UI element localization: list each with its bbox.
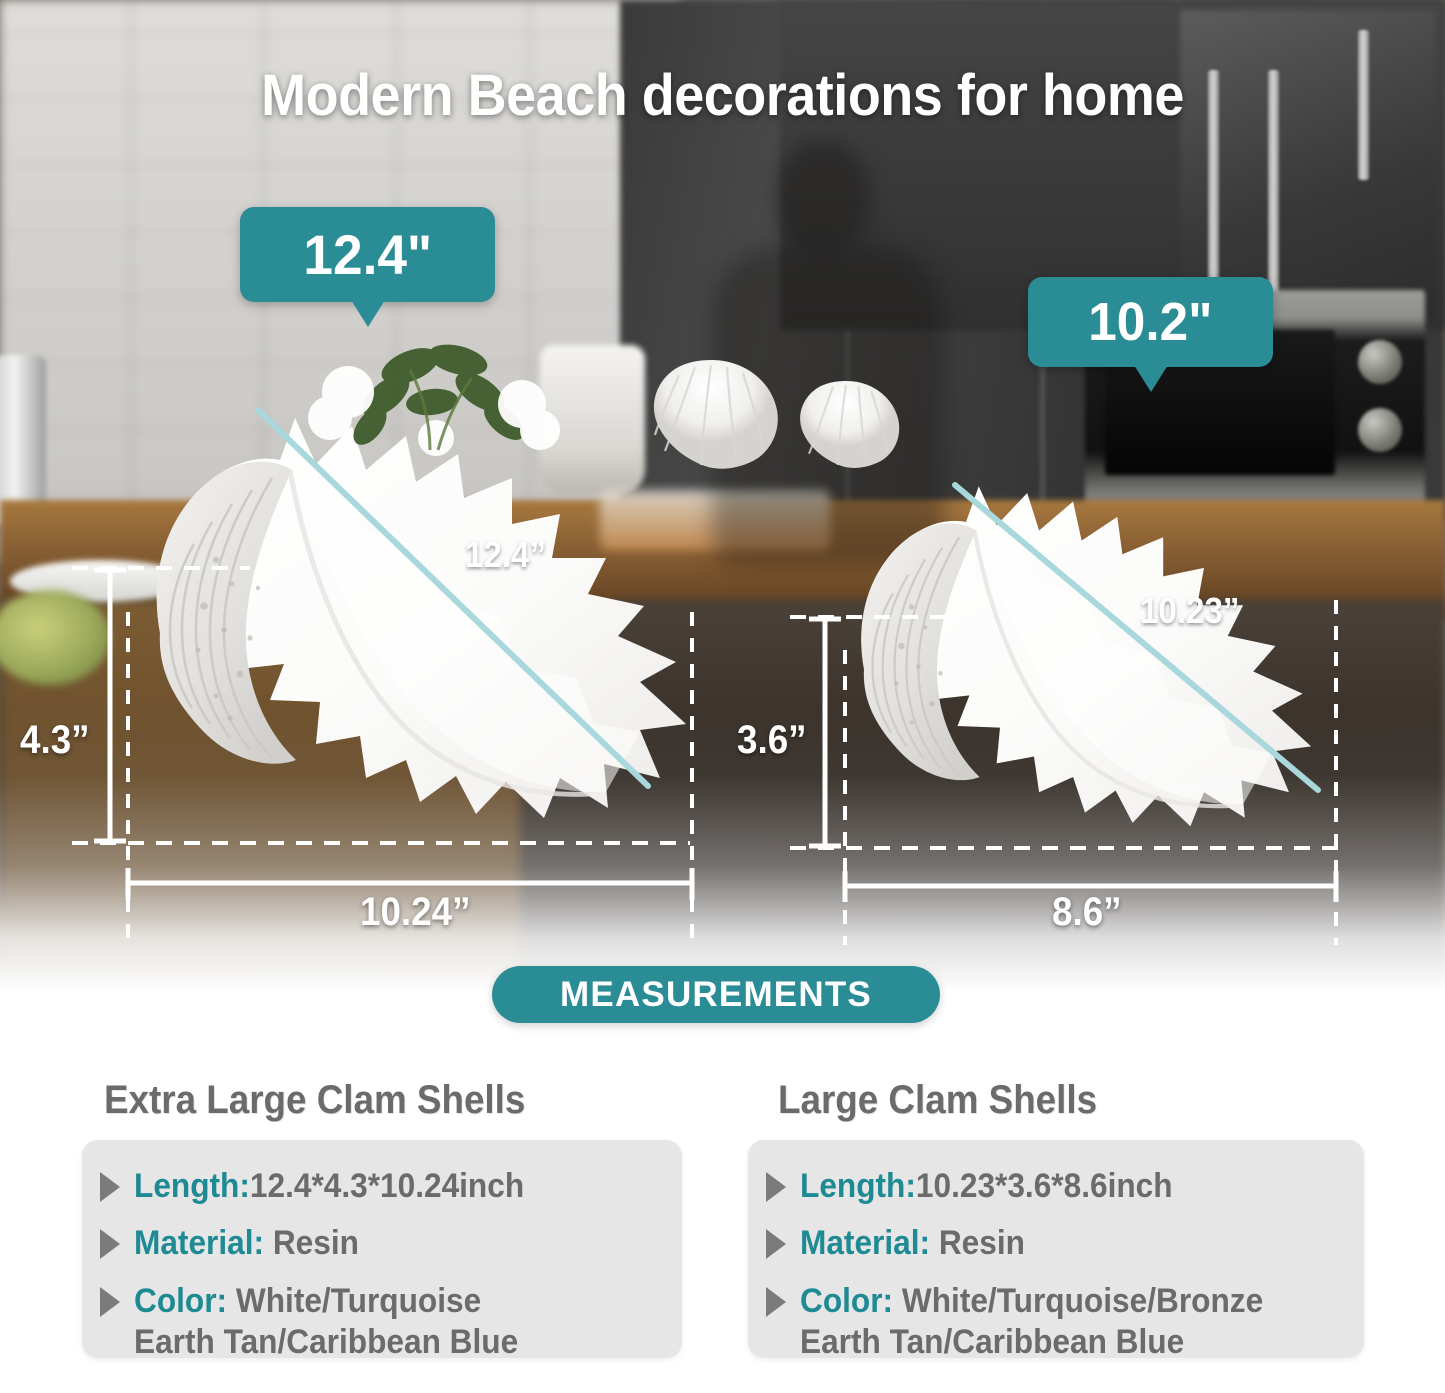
- callout-badge-xl: 12.4": [240, 207, 495, 302]
- spec-row-text: Length:12.4*4.3*10.24inch: [134, 1166, 524, 1207]
- measurements-banner: MEASUREMENTS: [492, 966, 940, 1023]
- xl-diagonal-label: 12.4”: [465, 534, 546, 576]
- spec-row-text: Material: Resin: [800, 1223, 1025, 1264]
- spec-row-color: Color: White/Turquoise Earth Tan/Caribbe…: [100, 1281, 664, 1364]
- spec-panel-xl: Length:12.4*4.3*10.24inch Material: Resi…: [82, 1140, 682, 1358]
- spec-key: Length:: [800, 1167, 916, 1205]
- spec-value-line2: Earth Tan/Caribbean Blue: [800, 1323, 1184, 1361]
- spec-row-material: Material: Resin: [766, 1223, 1346, 1264]
- triangle-right-icon: [766, 1287, 786, 1317]
- spec-row-text: Color: White/Turquoise/Bronze Earth Tan/…: [800, 1281, 1263, 1364]
- spec-title-xl: Extra Large Clam Shells: [104, 1078, 525, 1123]
- spec-panel-l: Length:10.23*3.6*8.6inch Material: Resin…: [748, 1140, 1364, 1358]
- l-diagonal-label: 10.23”: [1140, 590, 1239, 632]
- spec-title-l: Large Clam Shells: [778, 1078, 1097, 1123]
- page-title: Modern Beach decorations for home: [51, 62, 1395, 129]
- microwave-knob: [1358, 408, 1402, 452]
- spec-key: Material:: [134, 1224, 264, 1262]
- spec-row-text: Material: Resin: [134, 1223, 359, 1264]
- kitchen-scene-photo: 4.3” 10.24” 12.4” 3.6” 8.6” 10.23” Moder…: [0, 0, 1445, 1010]
- spec-key: Color:: [134, 1282, 227, 1320]
- spec-key: Color:: [800, 1282, 893, 1320]
- triangle-right-icon: [100, 1172, 120, 1202]
- l-width-label: 8.6”: [1052, 890, 1122, 935]
- callout-badge-xl-value: 12.4": [303, 222, 432, 287]
- person-silhouette-head: [775, 140, 871, 252]
- spec-key: Length:: [134, 1167, 250, 1205]
- triangle-right-icon: [766, 1172, 786, 1202]
- spec-value: 12.4*4.3*10.24inch: [250, 1167, 524, 1205]
- spec-value: White/Turquoise: [227, 1282, 481, 1320]
- spec-row-text: Length:10.23*3.6*8.6inch: [800, 1166, 1173, 1207]
- spec-value-line2: Earth Tan/Caribbean Blue: [134, 1323, 518, 1361]
- spec-value: 10.23*3.6*8.6inch: [916, 1167, 1173, 1205]
- xl-height-label: 4.3”: [20, 718, 90, 763]
- spec-row-text: Color: White/Turquoise Earth Tan/Caribbe…: [134, 1281, 518, 1364]
- triangle-right-icon: [766, 1229, 786, 1259]
- spec-row-color: Color: White/Turquoise/Bronze Earth Tan/…: [766, 1281, 1346, 1364]
- plant-decoration: [290, 330, 570, 470]
- callout-badge-l: 10.2": [1028, 277, 1273, 367]
- spec-value: Resin: [930, 1224, 1025, 1262]
- microwave-knob: [1358, 340, 1402, 384]
- spec-row-length: Length:10.23*3.6*8.6inch: [766, 1166, 1346, 1207]
- spec-value: White/Turquoise/Bronze: [893, 1282, 1263, 1320]
- triangle-right-icon: [100, 1229, 120, 1259]
- product-infographic: 4.3” 10.24” 12.4” 3.6” 8.6” 10.23” Moder…: [0, 0, 1445, 1393]
- spec-row-length: Length:12.4*4.3*10.24inch: [100, 1166, 664, 1207]
- xl-width-label: 10.24”: [360, 890, 471, 935]
- triangle-right-icon: [100, 1287, 120, 1317]
- callout-badge-l-value: 10.2": [1088, 291, 1212, 353]
- spec-row-material: Material: Resin: [100, 1223, 664, 1264]
- clam-shell-icon: [830, 452, 1340, 852]
- spec-value: Resin: [264, 1224, 359, 1262]
- spec-key: Material:: [800, 1224, 930, 1262]
- l-height-label: 3.6”: [737, 718, 807, 763]
